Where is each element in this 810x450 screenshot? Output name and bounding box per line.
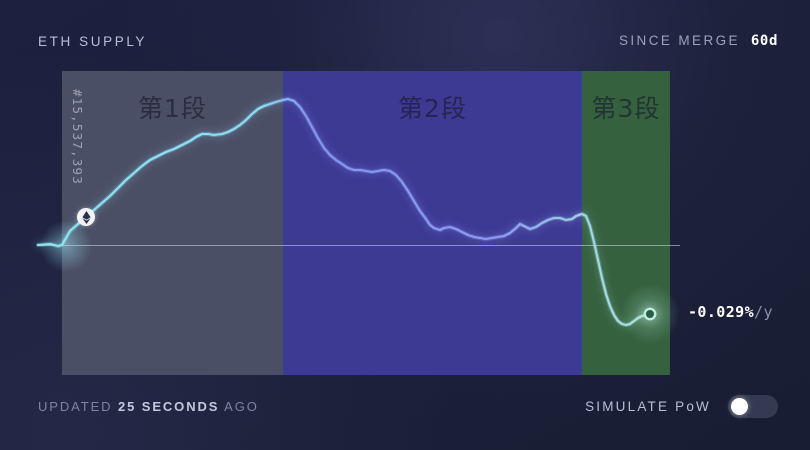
widget-header: ETH SUPPLY SINCE MERGE 60d bbox=[38, 30, 778, 52]
since-merge-label: SINCE MERGE bbox=[619, 33, 740, 48]
chart-segment-2: 第2段 bbox=[283, 71, 582, 375]
readout-unit: /y bbox=[754, 303, 773, 321]
page-title: ETH SUPPLY bbox=[38, 34, 147, 49]
block-number-label: #15,537,393 bbox=[70, 89, 85, 185]
eth-logo-badge bbox=[77, 208, 95, 226]
simulate-pow-label: SIMULATE PoW bbox=[585, 399, 711, 414]
range-value[interactable]: 60d bbox=[751, 33, 778, 49]
segment-2-label: 第2段 bbox=[283, 89, 582, 125]
segment-1-label: 第1段 bbox=[62, 89, 283, 125]
updated-value: 25 SECONDS bbox=[118, 399, 219, 414]
supply-chart[interactable]: 第1段 第2段 第3段 #15,537,393 bbox=[62, 71, 670, 375]
eth-supply-widget: ETH SUPPLY SINCE MERGE 60d 第1段 第2段 第3段 #… bbox=[0, 0, 810, 450]
updated-suffix: AGO bbox=[224, 399, 259, 414]
widget-footer: UPDATED 25 SECONDS AGO SIMULATE PoW bbox=[38, 394, 778, 418]
simulate-pow-control[interactable]: SIMULATE PoW bbox=[585, 395, 778, 418]
readout-value: -0.029% bbox=[688, 303, 754, 321]
current-supply-rate-readout: -0.029% /y bbox=[688, 303, 773, 321]
time-range-control[interactable]: SINCE MERGE 60d bbox=[619, 33, 778, 49]
toggle-knob bbox=[731, 398, 748, 415]
ethereum-diamond-icon bbox=[82, 211, 91, 224]
simulate-pow-toggle[interactable] bbox=[728, 395, 778, 418]
chart-segment-3: 第3段 bbox=[582, 71, 670, 375]
chart-segment-1: 第1段 bbox=[62, 71, 283, 375]
segment-3-label: 第3段 bbox=[582, 89, 670, 125]
updated-prefix: UPDATED bbox=[38, 399, 112, 414]
zero-baseline bbox=[38, 245, 680, 246]
last-updated-text: UPDATED 25 SECONDS AGO bbox=[38, 399, 259, 414]
